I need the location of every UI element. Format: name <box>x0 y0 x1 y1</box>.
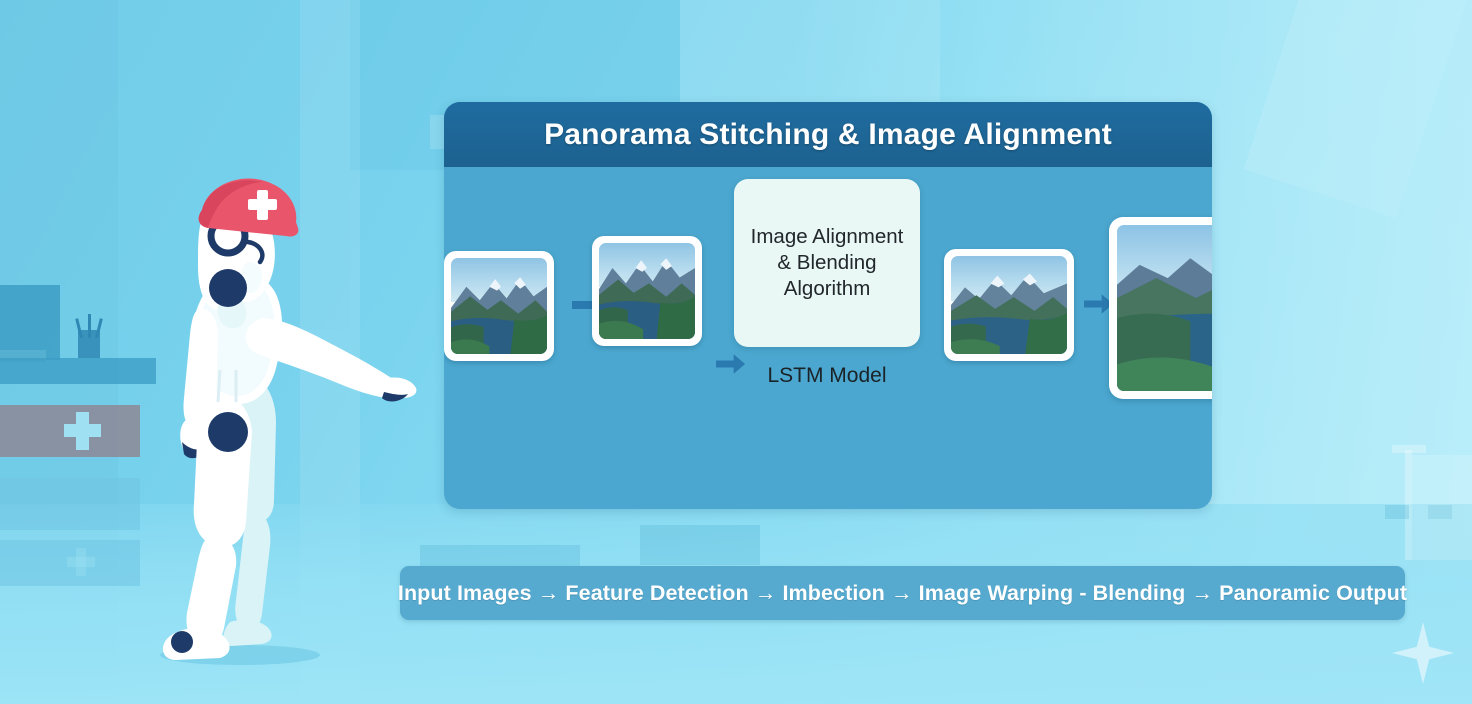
input-image-2[interactable] <box>592 236 702 346</box>
algorithm-line-3: Algorithm <box>784 277 871 300</box>
cabinet-cross-horizontal <box>64 424 101 437</box>
input-image-3-canvas <box>951 256 1067 354</box>
cabinet-shelf-prop <box>0 478 140 530</box>
right-wall-panel <box>1412 455 1472 560</box>
pipeline-banner: Input Images → Feature Detection → Imbec… <box>400 566 1405 620</box>
panel-header: Panorama Stitching & Image Alignment <box>444 102 1212 167</box>
pipeline-banner-text: Input Images → Feature Detection → Imbec… <box>398 581 1407 606</box>
screenshot-root: Panorama Stitching & Image Alignment <box>0 0 1472 704</box>
panorama-output-canvas <box>1117 225 1212 391</box>
input-image-3[interactable] <box>944 249 1074 361</box>
model-caption: LSTM Model <box>734 364 920 388</box>
iv-stand-top <box>1392 445 1426 453</box>
page-title: Panorama Stitching & Image Alignment <box>544 118 1112 152</box>
input-image-1-canvas <box>451 258 547 354</box>
pencil-prop-2 <box>88 314 91 338</box>
input-image-2-canvas <box>599 243 695 339</box>
monitor-prop <box>0 285 60 360</box>
algorithm-line-2: & Blending <box>777 251 876 274</box>
algorithm-label: Image Alignment & Blending Algorithm <box>739 224 916 303</box>
panorama-output[interactable] <box>1109 217 1212 399</box>
floor-shape-prop-2 <box>640 525 760 565</box>
equipment-box-prop-1 <box>1385 505 1409 519</box>
robot-assistant <box>150 170 420 670</box>
main-panel: Panorama Stitching & Image Alignment <box>444 102 1212 509</box>
pipeline-flow: Image Alignment & Blending Algorithm LST… <box>444 167 1212 509</box>
panel-body: Image Alignment & Blending Algorithm LST… <box>444 167 1212 509</box>
input-image-1[interactable] <box>444 251 554 361</box>
algorithm-box[interactable]: Image Alignment & Blending Algorithm <box>734 179 920 347</box>
cabinet-cross-faint-horizontal <box>67 557 95 567</box>
algorithm-line-1: Image Alignment <box>751 225 904 248</box>
desk-prop <box>0 358 156 384</box>
